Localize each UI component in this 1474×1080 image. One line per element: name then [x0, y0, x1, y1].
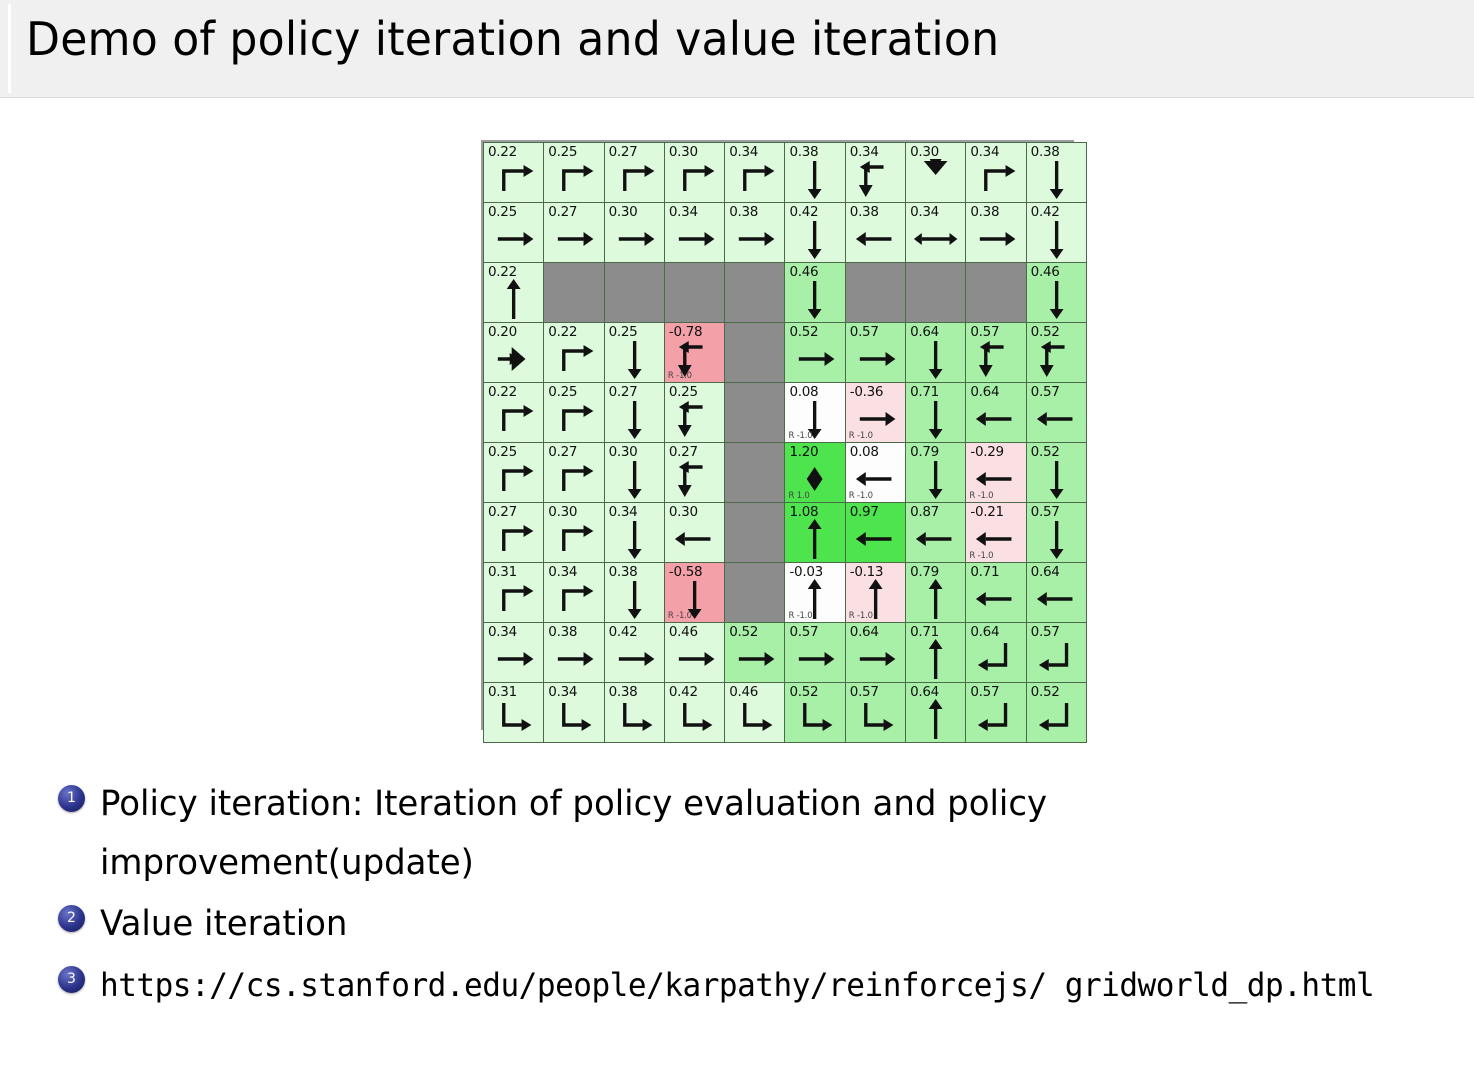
- grid-cell-r10c5[interactable]: 0.46: [725, 683, 785, 743]
- grid-cell-value: 0.25: [488, 205, 517, 220]
- grid-cell-value: 0.34: [669, 205, 698, 220]
- grid-cell-value: 0.57: [1031, 385, 1060, 400]
- grid-cell-r9c8[interactable]: 0.71: [906, 623, 966, 683]
- grid-cell-value: 0.71: [910, 625, 939, 640]
- grid-cell-r10c4[interactable]: 0.42: [664, 683, 724, 743]
- grid-cell-r9c1[interactable]: 0.34: [484, 623, 544, 683]
- grid-cell-r4c2[interactable]: 0.22: [544, 323, 604, 383]
- grid-cell-value: 0.30: [910, 145, 939, 160]
- policy-arrow-left-down-icon: [665, 397, 724, 441]
- grid-cell-r1c10[interactable]: 0.38: [1026, 143, 1086, 203]
- grid-cell-r10c1[interactable]: 0.31: [484, 683, 544, 743]
- grid-cell-r6c6[interactable]: 1.20R 1.0: [785, 443, 845, 503]
- policy-arrow-down-icon: [785, 157, 844, 201]
- policy-arrow-down-icon: [1027, 457, 1086, 501]
- grid-cell-value: 0.08: [850, 445, 879, 460]
- grid-cell-value: 0.34: [970, 145, 999, 160]
- policy-arrow-right-icon: [785, 637, 844, 681]
- policy-arrow-up-right-icon: [544, 457, 603, 501]
- policy-arrow-down-icon: [785, 277, 844, 321]
- gridworld-row: 0.250.270.300.271.20R 1.00.08R -1.00.79-…: [484, 443, 1087, 503]
- grid-cell-wall-r7c5: [725, 503, 785, 563]
- bullet-number-badge: 3: [58, 966, 85, 993]
- grid-cell-value: 0.27: [609, 385, 638, 400]
- slide-title-bar: Demo of policy iteration and value itera…: [0, 0, 1474, 98]
- grid-cell-r9c9[interactable]: 0.64: [966, 623, 1026, 683]
- grid-cell-value: 0.42: [609, 625, 638, 640]
- grid-cell-value: 0.57: [850, 685, 879, 700]
- policy-arrow-down-right-icon: [605, 697, 664, 741]
- grid-cell-wall-r3c8: [906, 263, 966, 323]
- grid-cell-wall-r6c5: [725, 443, 785, 503]
- grid-cell-r8c4[interactable]: -0.58R -1.0: [664, 563, 724, 623]
- grid-cell-value: 0.25: [548, 145, 577, 160]
- grid-cell-value: 0.46: [669, 625, 698, 640]
- grid-cell-wall-r3c3: [604, 263, 664, 323]
- grid-cell-r5c1[interactable]: 0.22: [484, 383, 544, 443]
- grid-cell-value: 0.52: [789, 325, 818, 340]
- policy-arrow-down-icon: [906, 337, 965, 381]
- grid-cell-r2c9[interactable]: 0.38: [966, 203, 1026, 263]
- grid-cell-reward: R -1.0: [788, 432, 812, 441]
- gridworld-row: 0.310.340.380.420.460.520.570.640.570.52: [484, 683, 1087, 743]
- grid-cell-r6c9[interactable]: -0.29R -1.0: [966, 443, 1026, 503]
- grid-cell-wall-r8c5: [725, 563, 785, 623]
- policy-arrow-down-icon: [785, 217, 844, 261]
- grid-cell-r7c3[interactable]: 0.34: [604, 503, 664, 563]
- grid-cell-value: -0.29: [970, 445, 1003, 460]
- grid-cell-r7c6[interactable]: 1.08: [785, 503, 845, 563]
- gridworld-row: 0.340.380.420.460.520.570.640.710.640.57: [484, 623, 1087, 683]
- policy-arrow-down-icon: [906, 397, 965, 441]
- grid-cell-value: 0.71: [910, 385, 939, 400]
- grid-cell-reward: R -1.0: [788, 612, 812, 621]
- policy-arrow-down-left-icon: [966, 697, 1025, 741]
- grid-cell-value: 0.79: [910, 445, 939, 460]
- grid-cell-wall-r3c2: [544, 263, 604, 323]
- policy-arrow-right-icon: [665, 217, 724, 261]
- grid-cell-value: 0.57: [970, 685, 999, 700]
- grid-cell-reward: R -1.0: [969, 492, 993, 501]
- grid-cell-r6c8[interactable]: 0.79: [906, 443, 966, 503]
- policy-arrow-multi-down-icon: [906, 157, 965, 201]
- list-item: 2Value iteration: [58, 895, 1458, 954]
- grid-cell-value: 0.27: [548, 205, 577, 220]
- policy-arrow-down-right-icon: [665, 697, 724, 741]
- grid-cell-r6c7[interactable]: 0.08R -1.0: [845, 443, 905, 503]
- grid-cell-value: 0.87: [910, 505, 939, 520]
- grid-cell-r1c4[interactable]: 0.30: [664, 143, 724, 203]
- grid-cell-value: 0.25: [548, 385, 577, 400]
- policy-arrow-down-icon: [1027, 157, 1086, 201]
- policy-arrow-left-down-icon: [846, 157, 905, 201]
- policy-arrow-left-icon: [1027, 397, 1086, 441]
- grid-cell-r8c3[interactable]: 0.38: [604, 563, 664, 623]
- policy-arrow-down-icon: [605, 577, 664, 621]
- grid-cell-r7c1[interactable]: 0.27: [484, 503, 544, 563]
- grid-cell-r4c1[interactable]: 0.20: [484, 323, 544, 383]
- policy-arrow-up-right-icon: [484, 457, 543, 501]
- grid-cell-value: 0.27: [548, 445, 577, 460]
- list-item: 3https://cs.stanford.edu/people/karpathy…: [58, 956, 1458, 1015]
- grid-cell-r4c7[interactable]: 0.57: [845, 323, 905, 383]
- gridworld-table: 0.220.250.270.300.340.380.340.300.340.38…: [483, 142, 1087, 743]
- grid-cell-value: -0.58: [669, 565, 702, 580]
- grid-cell-r6c3[interactable]: 0.30: [604, 443, 664, 503]
- grid-cell-value: -0.36: [850, 385, 883, 400]
- grid-cell-value: -0.03: [789, 565, 822, 580]
- policy-arrow-left-icon: [665, 517, 724, 561]
- grid-cell-r7c7[interactable]: 0.97: [845, 503, 905, 563]
- grid-cell-value: 0.57: [1031, 625, 1060, 640]
- grid-cell-value: 0.71: [970, 565, 999, 580]
- grid-cell-r9c3[interactable]: 0.42: [604, 623, 664, 683]
- title-left-rule: [8, 4, 11, 93]
- policy-arrow-right-icon: [966, 217, 1025, 261]
- grid-cell-value: 0.46: [789, 265, 818, 280]
- grid-cell-r2c8[interactable]: 0.34: [906, 203, 966, 263]
- policy-arrow-up-icon: [906, 637, 965, 681]
- grid-cell-reward: R -1.0: [849, 612, 873, 621]
- grid-cell-value: 0.46: [1031, 265, 1060, 280]
- grid-cell-value: 0.64: [1031, 565, 1060, 580]
- grid-cell-r1c8[interactable]: 0.30: [906, 143, 966, 203]
- grid-cell-r10c3[interactable]: 0.38: [604, 683, 664, 743]
- grid-cell-value: 0.08: [789, 385, 818, 400]
- grid-cell-wall-r4c5: [725, 323, 785, 383]
- policy-arrow-up-right-icon: [665, 157, 724, 201]
- grid-cell-value: 0.34: [609, 505, 638, 520]
- grid-cell-r10c9[interactable]: 0.57: [966, 683, 1026, 743]
- grid-cell-r10c8[interactable]: 0.64: [906, 683, 966, 743]
- policy-arrow-up-icon: [906, 577, 965, 621]
- grid-cell-value: -0.78: [669, 325, 702, 340]
- grid-cell-value: 1.08: [789, 505, 818, 520]
- grid-cell-r3c6[interactable]: 0.46: [785, 263, 845, 323]
- grid-cell-r5c2[interactable]: 0.25: [544, 383, 604, 443]
- policy-arrow-down-icon: [1027, 217, 1086, 261]
- grid-cell-r7c2[interactable]: 0.30: [544, 503, 604, 563]
- grid-cell-value: 0.22: [488, 265, 517, 280]
- grid-cell-value: 0.52: [1031, 325, 1060, 340]
- grid-cell-r1c1[interactable]: 0.22: [484, 143, 544, 203]
- bullet-list: 1Policy iteration: Iteration of policy e…: [58, 775, 1458, 1017]
- policy-arrow-up-right-icon: [725, 157, 784, 201]
- policy-arrow-left-icon: [906, 517, 965, 561]
- policy-arrow-down-left-icon: [966, 637, 1025, 681]
- grid-cell-value: 0.52: [1031, 445, 1060, 460]
- policy-arrow-up-icon: [906, 697, 965, 741]
- grid-cell-r1c3[interactable]: 0.27: [604, 143, 664, 203]
- grid-cell-r1c5[interactable]: 0.34: [725, 143, 785, 203]
- policy-arrow-right-icon: [605, 637, 664, 681]
- grid-cell-r4c3[interactable]: 0.25: [604, 323, 664, 383]
- grid-cell-r10c2[interactable]: 0.34: [544, 683, 604, 743]
- policy-arrow-down-right-icon: [725, 697, 784, 741]
- grid-cell-wall-r3c9: [966, 263, 1026, 323]
- gridworld-row: 0.220.250.270.250.08R -1.0-0.36R -1.00.7…: [484, 383, 1087, 443]
- policy-arrow-left-right-icon: [906, 217, 965, 261]
- grid-cell-r4c10[interactable]: 0.52: [1026, 323, 1086, 383]
- policy-arrow-down-icon: [605, 457, 664, 501]
- policy-arrow-left-icon: [966, 397, 1025, 441]
- grid-cell-value: 0.25: [609, 325, 638, 340]
- policy-arrow-down-icon: [605, 337, 664, 381]
- grid-cell-value: 0.64: [850, 625, 879, 640]
- grid-cell-value: 0.30: [609, 205, 638, 220]
- gridworld-grid[interactable]: 0.220.250.270.300.340.380.340.300.340.38…: [481, 140, 1074, 730]
- grid-cell-r8c1[interactable]: 0.31: [484, 563, 544, 623]
- policy-arrow-down-right-icon: [484, 697, 543, 741]
- policy-arrow-right-icon: [846, 337, 905, 381]
- policy-arrow-down-icon: [605, 397, 664, 441]
- grid-cell-reward: R -1.0: [969, 552, 993, 561]
- grid-cell-value: 0.27: [488, 505, 517, 520]
- grid-cell-r1c6[interactable]: 0.38: [785, 143, 845, 203]
- policy-arrow-right-icon: [484, 637, 543, 681]
- grid-cell-r2c7[interactable]: 0.38: [845, 203, 905, 263]
- page-title: Demo of policy iteration and value itera…: [26, 12, 999, 66]
- grid-cell-value: 0.57: [789, 625, 818, 640]
- grid-cell-r5c7[interactable]: -0.36R -1.0: [845, 383, 905, 443]
- gridworld-row: 0.270.300.340.301.080.970.87-0.21R -1.00…: [484, 503, 1087, 563]
- grid-cell-value: 0.27: [669, 445, 698, 460]
- grid-cell-r9c6[interactable]: 0.57: [785, 623, 845, 683]
- grid-cell-value: 0.38: [729, 205, 758, 220]
- policy-arrow-down-left-icon: [1027, 697, 1086, 741]
- policy-arrow-up-right-icon: [484, 157, 543, 201]
- grid-cell-r2c1[interactable]: 0.25: [484, 203, 544, 263]
- grid-cell-r10c10[interactable]: 0.52: [1026, 683, 1086, 743]
- bullet-number-badge: 1: [58, 785, 85, 812]
- bullet-link-text[interactable]: https://cs.stanford.edu/people/karpathy/…: [100, 956, 1417, 1015]
- grid-cell-r2c10[interactable]: 0.42: [1026, 203, 1086, 263]
- policy-arrow-right-icon: [484, 217, 543, 261]
- grid-cell-value: 0.38: [850, 205, 879, 220]
- policy-arrow-down-right-icon: [846, 697, 905, 741]
- policy-arrow-up-right-icon: [966, 157, 1025, 201]
- grid-cell-value: 0.30: [669, 145, 698, 160]
- policy-arrow-down-right-icon: [785, 697, 844, 741]
- grid-cell-r6c2[interactable]: 0.27: [544, 443, 604, 503]
- grid-cell-value: 0.52: [729, 625, 758, 640]
- grid-cell-reward: R 1.0: [788, 492, 809, 501]
- grid-cell-r3c1[interactable]: 0.22: [484, 263, 544, 323]
- grid-cell-r5c4[interactable]: 0.25: [664, 383, 724, 443]
- policy-arrow-up-right-icon: [544, 517, 603, 561]
- policy-arrow-up-right-icon: [605, 157, 664, 201]
- policy-arrow-right-icon: [725, 637, 784, 681]
- grid-cell-r8c7[interactable]: -0.13R -1.0: [845, 563, 905, 623]
- grid-cell-wall-r3c7: [845, 263, 905, 323]
- policy-arrow-up-right-icon: [484, 517, 543, 561]
- bullet-text: Policy iteration: Iteration of policy ev…: [100, 775, 1417, 893]
- grid-cell-r9c4[interactable]: 0.46: [664, 623, 724, 683]
- grid-cell-r4c8[interactable]: 0.64: [906, 323, 966, 383]
- grid-cell-value: 0.30: [609, 445, 638, 460]
- policy-arrow-left-icon: [1027, 577, 1086, 621]
- grid-cell-r5c3[interactable]: 0.27: [604, 383, 664, 443]
- policy-arrow-right-icon: [605, 217, 664, 261]
- grid-cell-value: 0.46: [729, 685, 758, 700]
- grid-cell-value: 0.97: [850, 505, 879, 520]
- grid-cell-r1c7[interactable]: 0.34: [845, 143, 905, 203]
- policy-arrow-right-icon: [846, 637, 905, 681]
- policy-arrow-right-icon: [665, 637, 724, 681]
- policy-arrow-left-down-icon: [966, 337, 1025, 381]
- grid-cell-reward: R -1.0: [668, 612, 692, 621]
- grid-cell-value: 0.38: [609, 685, 638, 700]
- grid-cell-value: 0.57: [1031, 505, 1060, 520]
- grid-cell-value: 0.52: [1031, 685, 1060, 700]
- policy-arrow-left-down-icon: [1027, 337, 1086, 381]
- grid-cell-value: 0.38: [970, 205, 999, 220]
- grid-cell-r4c4[interactable]: -0.78R -1.0: [664, 323, 724, 383]
- policy-arrow-left-down-icon: [665, 457, 724, 501]
- gridworld-row: 0.200.220.25-0.78R -1.00.520.570.640.570…: [484, 323, 1087, 383]
- policy-arrow-right-icon: [544, 637, 603, 681]
- grid-cell-r8c10[interactable]: 0.64: [1026, 563, 1086, 623]
- policy-arrow-up-right-icon: [544, 157, 603, 201]
- grid-cell-r9c10[interactable]: 0.57: [1026, 623, 1086, 683]
- grid-cell-r7c10[interactable]: 0.57: [1026, 503, 1086, 563]
- grid-cell-r6c10[interactable]: 0.52: [1026, 443, 1086, 503]
- grid-cell-r10c7[interactable]: 0.57: [845, 683, 905, 743]
- policy-arrow-up-right-icon: [544, 337, 603, 381]
- grid-cell-value: 0.38: [1031, 145, 1060, 160]
- grid-cell-r2c4[interactable]: 0.34: [664, 203, 724, 263]
- policy-arrow-down-icon: [906, 457, 965, 501]
- gridworld-body: 0.220.250.270.300.340.380.340.300.340.38…: [484, 143, 1087, 743]
- grid-cell-value: 0.64: [970, 385, 999, 400]
- grid-cell-r10c6[interactable]: 0.52: [785, 683, 845, 743]
- grid-cell-r5c10[interactable]: 0.57: [1026, 383, 1086, 443]
- policy-arrow-left-icon: [846, 517, 905, 561]
- grid-cell-reward: R -1.0: [849, 432, 873, 441]
- grid-cell-r7c8[interactable]: 0.87: [906, 503, 966, 563]
- policy-arrow-down-icon: [605, 517, 664, 561]
- grid-cell-wall-r3c4: [664, 263, 724, 323]
- bullet-number-badge: 2: [58, 905, 85, 932]
- gridworld-row: 0.310.340.38-0.58R -1.0-0.03R -1.0-0.13R…: [484, 563, 1087, 623]
- grid-cell-value: 0.38: [548, 625, 577, 640]
- grid-cell-value: 0.42: [1031, 205, 1060, 220]
- grid-cell-value: 0.22: [488, 145, 517, 160]
- grid-cell-value: 0.34: [548, 565, 577, 580]
- grid-cell-value: 0.30: [548, 505, 577, 520]
- grid-cell-value: 0.22: [548, 325, 577, 340]
- grid-cell-value: 0.64: [910, 325, 939, 340]
- list-item: 1Policy iteration: Iteration of policy e…: [58, 775, 1458, 893]
- policy-arrow-down-icon: [1027, 517, 1086, 561]
- grid-cell-value: 0.42: [789, 205, 818, 220]
- grid-cell-r6c4[interactable]: 0.27: [664, 443, 724, 503]
- grid-cell-value: 0.38: [789, 145, 818, 160]
- grid-cell-r7c9[interactable]: -0.21R -1.0: [966, 503, 1026, 563]
- grid-cell-value: 0.64: [910, 685, 939, 700]
- policy-arrow-up-right-icon: [544, 577, 603, 621]
- grid-cell-r4c9[interactable]: 0.57: [966, 323, 1026, 383]
- grid-cell-r7c4[interactable]: 0.30: [664, 503, 724, 563]
- grid-cell-value: -0.21: [970, 505, 1003, 520]
- grid-cell-r5c9[interactable]: 0.64: [966, 383, 1026, 443]
- grid-cell-value: 0.57: [970, 325, 999, 340]
- grid-cell-value: 0.34: [488, 625, 517, 640]
- grid-cell-r8c9[interactable]: 0.71: [966, 563, 1026, 623]
- grid-cell-r2c2[interactable]: 0.27: [544, 203, 604, 263]
- grid-cell-value: 0.22: [488, 385, 517, 400]
- policy-arrow-up-right-icon: [544, 397, 603, 441]
- policy-arrow-up-icon: [785, 517, 844, 561]
- grid-cell-wall-r3c5: [725, 263, 785, 323]
- policy-arrow-left-icon: [846, 217, 905, 261]
- grid-cell-r9c2[interactable]: 0.38: [544, 623, 604, 683]
- bullet-text: Value iteration: [100, 895, 1417, 954]
- grid-cell-value: 0.34: [729, 145, 758, 160]
- grid-cell-value: 0.25: [488, 445, 517, 460]
- grid-cell-value: 0.25: [669, 385, 698, 400]
- grid-cell-value: 0.27: [609, 145, 638, 160]
- grid-cell-reward: R -1.0: [849, 492, 873, 501]
- grid-cell-value: 0.30: [669, 505, 698, 520]
- grid-cell-value: 0.34: [548, 685, 577, 700]
- grid-cell-value: 0.64: [970, 625, 999, 640]
- gridworld-row: 0.220.250.270.300.340.380.340.300.340.38: [484, 143, 1087, 203]
- policy-arrow-down-left-icon: [1027, 637, 1086, 681]
- grid-cell-value: 0.79: [910, 565, 939, 580]
- grid-cell-value: 0.57: [850, 325, 879, 340]
- grid-cell-r3c10[interactable]: 0.46: [1026, 263, 1086, 323]
- gridworld-row: 0.220.460.46: [484, 263, 1087, 323]
- grid-cell-value: 0.31: [488, 685, 517, 700]
- grid-cell-r9c7[interactable]: 0.64: [845, 623, 905, 683]
- grid-cell-value: 0.34: [850, 145, 879, 160]
- grid-cell-r9c5[interactable]: 0.52: [725, 623, 785, 683]
- policy-arrow-left-icon: [966, 577, 1025, 621]
- grid-cell-r5c8[interactable]: 0.71: [906, 383, 966, 443]
- grid-cell-value: 0.42: [669, 685, 698, 700]
- grid-cell-value: 0.38: [609, 565, 638, 580]
- grid-cell-r8c6[interactable]: -0.03R -1.0: [785, 563, 845, 623]
- grid-cell-r2c6[interactable]: 0.42: [785, 203, 845, 263]
- grid-cell-reward: R -1.0: [668, 372, 692, 381]
- policy-arrow-right-icon: [785, 337, 844, 381]
- policy-arrow-right-icon: [544, 217, 603, 261]
- grid-cell-r1c2[interactable]: 0.25: [544, 143, 604, 203]
- policy-arrow-down-right-icon: [544, 697, 603, 741]
- grid-cell-value: -0.13: [850, 565, 883, 580]
- grid-cell-value: 0.20: [488, 325, 517, 340]
- policy-arrow-multi-right-icon: [484, 337, 543, 381]
- grid-cell-r1c9[interactable]: 0.34: [966, 143, 1026, 203]
- policy-arrow-up-icon: [484, 277, 543, 321]
- grid-cell-value: 0.31: [488, 565, 517, 580]
- grid-cell-r2c3[interactable]: 0.30: [604, 203, 664, 263]
- policy-arrow-up-right-icon: [484, 577, 543, 621]
- grid-cell-r8c8[interactable]: 0.79: [906, 563, 966, 623]
- grid-cell-wall-r5c5: [725, 383, 785, 443]
- grid-cell-value: 0.52: [789, 685, 818, 700]
- grid-cell-r2c5[interactable]: 0.38: [725, 203, 785, 263]
- grid-cell-value: 0.34: [910, 205, 939, 220]
- grid-cell-r5c6[interactable]: 0.08R -1.0: [785, 383, 845, 443]
- grid-cell-value: 1.20: [789, 445, 818, 460]
- grid-cell-r6c1[interactable]: 0.25: [484, 443, 544, 503]
- grid-cell-r4c6[interactable]: 0.52: [785, 323, 845, 383]
- policy-arrow-up-right-icon: [484, 397, 543, 441]
- grid-cell-r8c2[interactable]: 0.34: [544, 563, 604, 623]
- gridworld-row: 0.250.270.300.340.380.420.380.340.380.42: [484, 203, 1087, 263]
